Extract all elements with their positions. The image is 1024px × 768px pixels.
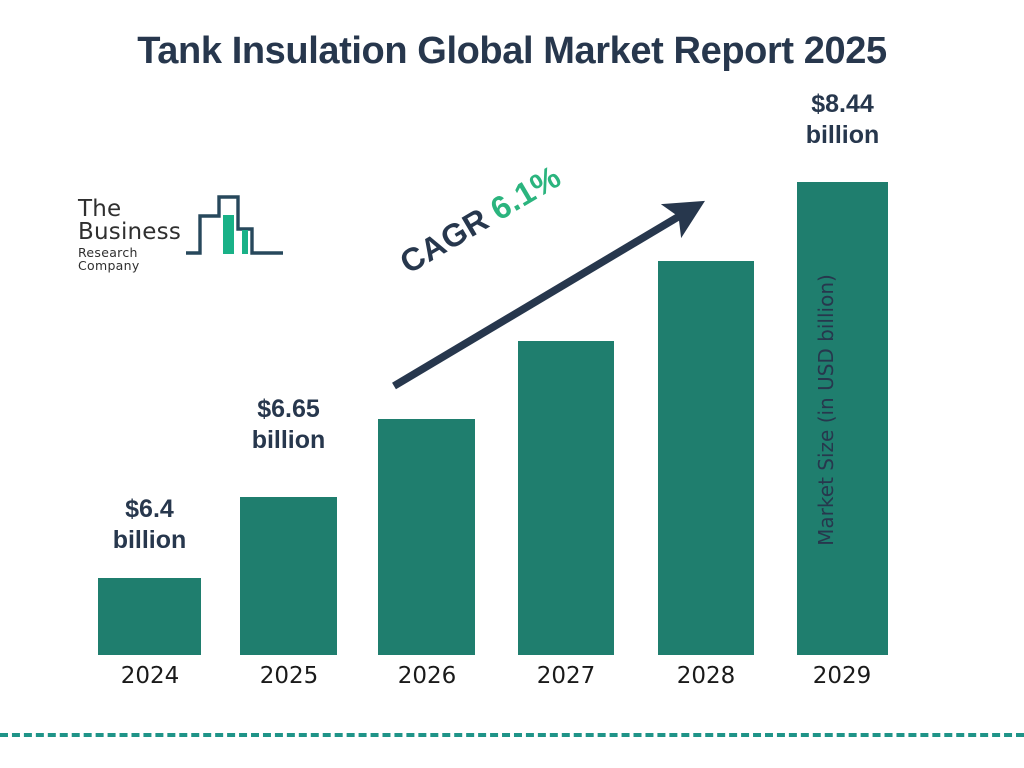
bar-2024	[98, 578, 201, 655]
bar-value-2029-line1: $8.44	[775, 89, 910, 120]
cagr-label: CAGR 6.1%	[394, 158, 568, 281]
bar-value-2025-line1: $6.65	[221, 394, 356, 425]
x-tick-2027: 2027	[506, 663, 626, 689]
bar-2025	[240, 497, 337, 655]
x-tick-2025: 2025	[229, 663, 349, 689]
chart-canvas: Tank Insulation Global Market Report 202…	[0, 0, 1024, 768]
bar-value-2025: $6.65 billion	[221, 394, 356, 455]
x-tick-2028: 2028	[646, 663, 766, 689]
bar-value-2024-line2: billion	[82, 525, 217, 556]
y-axis-title: Market Size (in USD billion)	[814, 250, 838, 570]
cagr-value: 6.1%	[484, 158, 567, 227]
bar-value-2029-line2: billion	[775, 120, 910, 151]
x-tick-2026: 2026	[367, 663, 487, 689]
bar-2026	[378, 419, 475, 655]
bar-2028	[658, 261, 754, 655]
bar-value-2024: $6.4 billion	[82, 494, 217, 555]
bar-2027	[518, 341, 614, 655]
bar-chart-plot: $6.4 billion $6.65 billion $8.44 billion…	[0, 0, 1024, 768]
bar-value-2024-line1: $6.4	[82, 494, 217, 525]
bar-2029	[797, 182, 888, 655]
x-tick-2024: 2024	[90, 663, 210, 689]
bar-value-2029: $8.44 billion	[775, 89, 910, 150]
x-tick-2029: 2029	[782, 663, 902, 689]
bar-value-2025-line2: billion	[221, 425, 356, 456]
cagr-word: CAGR	[394, 201, 495, 281]
footer-divider	[0, 733, 1024, 737]
